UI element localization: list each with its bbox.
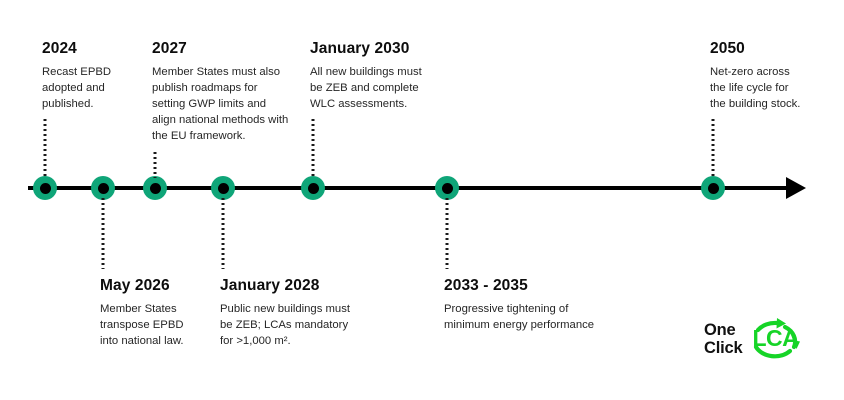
timeline-node xyxy=(211,176,235,200)
logo-lca-mark: LCA xyxy=(744,316,806,362)
timeline-event-year: 2050 xyxy=(710,40,800,57)
timeline-event-year: 2033 - 2035 xyxy=(444,277,594,294)
timeline-event-description: Public new buildings mustbe ZEB; LCAs ma… xyxy=(220,301,350,349)
timeline-node xyxy=(301,176,325,200)
logo-word-one: One xyxy=(704,322,742,339)
timeline-event-description: Member Statestranspose EPBDinto national… xyxy=(100,301,184,349)
timeline-event-year: 2027 xyxy=(152,40,288,57)
timeline-event: 2027Member States must alsopublish roadm… xyxy=(152,40,288,144)
timeline-event-year: January 2028 xyxy=(220,277,350,294)
timeline-event: 2033 - 2035Progressive tightening ofmini… xyxy=(444,277,594,333)
timeline-event-description: Net-zero acrossthe life cycle forthe bui… xyxy=(710,64,800,112)
timeline-connector-line xyxy=(44,119,47,178)
timeline-event-description: All new buildings mustbe ZEB and complet… xyxy=(310,64,422,112)
timeline-event: 2024Recast EPBDadopted andpublished. xyxy=(42,40,111,112)
timeline-event: January 2030All new buildings mustbe ZEB… xyxy=(310,40,422,112)
timeline-connector-line xyxy=(446,198,449,269)
timeline-connector-line xyxy=(712,119,715,178)
timeline-node xyxy=(143,176,167,200)
timeline-axis-arrowhead xyxy=(786,177,806,199)
one-click-lca-logo: One Click LCA xyxy=(704,315,820,363)
timeline-connector-line xyxy=(102,198,105,269)
timeline-node xyxy=(33,176,57,200)
logo-lca-text: LCA xyxy=(752,327,798,350)
logo-word-click: Click xyxy=(704,340,742,357)
timeline-connector-line xyxy=(154,152,157,179)
timeline-event-description: Member States must alsopublish roadmaps … xyxy=(152,64,288,144)
timeline-node xyxy=(91,176,115,200)
logo-wordmark: One Click xyxy=(704,321,742,356)
timeline-connector-line xyxy=(312,119,315,178)
timeline-event-year: 2024 xyxy=(42,40,111,57)
timeline-event-year: May 2026 xyxy=(100,277,184,294)
timeline-event: May 2026Member Statestranspose EPBDinto … xyxy=(100,277,184,349)
timeline-event-description: Recast EPBDadopted andpublished. xyxy=(42,64,111,112)
timeline-event-description: Progressive tightening ofminimum energy … xyxy=(444,301,594,333)
timeline-event: 2050Net-zero acrossthe life cycle forthe… xyxy=(710,40,800,112)
timeline-node xyxy=(435,176,459,200)
timeline-infographic: 2024Recast EPBDadopted andpublished.May … xyxy=(0,0,844,400)
timeline-node xyxy=(701,176,725,200)
timeline-connector-line xyxy=(222,198,225,269)
timeline-event-year: January 2030 xyxy=(310,40,422,57)
timeline-event: January 2028Public new buildings mustbe … xyxy=(220,277,350,349)
